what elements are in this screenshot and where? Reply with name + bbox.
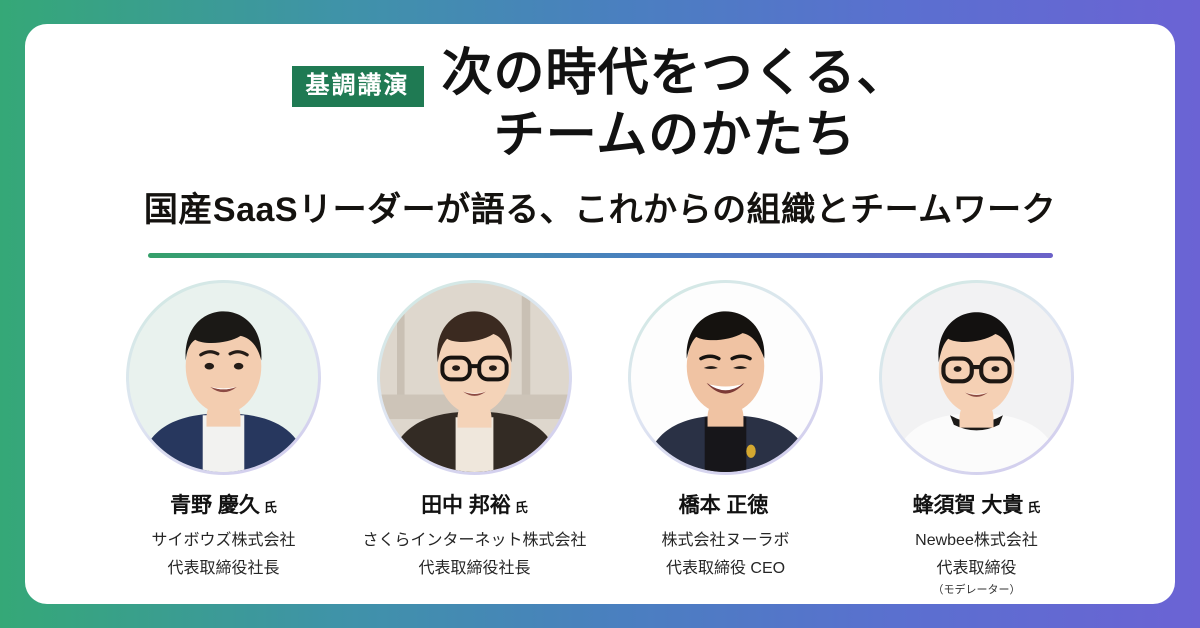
portrait-illustration (380, 283, 569, 472)
title-line-1: 次の時代をつくる、 (442, 44, 909, 101)
speaker-card: 田中 邦裕氏 さくらインターネット株式会社 代表取締役社長 (375, 280, 575, 597)
speaker-role: 代表取締役社長 (418, 554, 530, 578)
header: 基調講演 次の時代をつくる、 チームのかたち 国産SaaSリーダーが語る、これか… (25, 24, 1175, 258)
page-title: 次の時代をつくる、 チームのかたち (442, 42, 909, 166)
speaker-company: サイボウズ株式会社 (151, 526, 295, 550)
speaker-list: 青野 慶久氏 サイボウズ株式会社 代表取締役社長 (25, 280, 1175, 597)
speaker-name: 青野 慶久氏 (170, 489, 277, 519)
speaker-company: 株式会社ヌーラボ (661, 526, 789, 550)
avatar (380, 283, 569, 472)
speaker-company: Newbee株式会社 (915, 526, 1038, 550)
title-row: 基調講演 次の時代をつくる、 チームのかたち (25, 42, 1175, 166)
speaker-card: 橋本 正徳 株式会社ヌーラボ 代表取締役 CEO (626, 280, 826, 597)
avatar (129, 283, 318, 472)
portrait-illustration (129, 283, 318, 472)
honorific: 氏 (264, 500, 277, 515)
speaker-role: 代表取締役 CEO (666, 554, 785, 578)
portrait-illustration (882, 283, 1071, 472)
avatar-ring (879, 280, 1074, 475)
speaker-company: さくらインターネット株式会社 (363, 526, 587, 550)
speaker-name: 蜂須賀 大貴氏 (913, 489, 1041, 519)
avatar (631, 283, 820, 472)
avatar-ring (126, 280, 321, 475)
keynote-badge: 基調講演 (292, 66, 424, 107)
content-card: 基調講演 次の時代をつくる、 チームのかたち 国産SaaSリーダーが語る、これか… (25, 24, 1175, 604)
speaker-note: （モデレーター） (933, 581, 1021, 597)
avatar-ring (628, 280, 823, 475)
speaker-card: 青野 慶久氏 サイボウズ株式会社 代表取締役社長 (124, 280, 324, 597)
speaker-name: 田中 邦裕氏 (421, 489, 528, 519)
speaker-role: 代表取締役 (936, 554, 1016, 578)
portrait-illustration (631, 283, 820, 472)
honorific: 氏 (1027, 500, 1040, 515)
page-subtitle: 国産SaaSリーダーが語る、これからの組織とチームワーク (25, 182, 1175, 231)
speaker-role: 代表取締役社長 (167, 554, 279, 578)
avatar-ring (377, 280, 572, 475)
avatar (882, 283, 1071, 472)
speaker-name: 橋本 正徳 (679, 489, 773, 519)
gradient-divider (148, 253, 1053, 258)
speaker-card: 蜂須賀 大貴氏 Newbee株式会社 代表取締役 （モデレーター） (877, 280, 1077, 597)
title-line-2: チームのかたち (442, 104, 909, 166)
honorific: 氏 (515, 500, 528, 515)
